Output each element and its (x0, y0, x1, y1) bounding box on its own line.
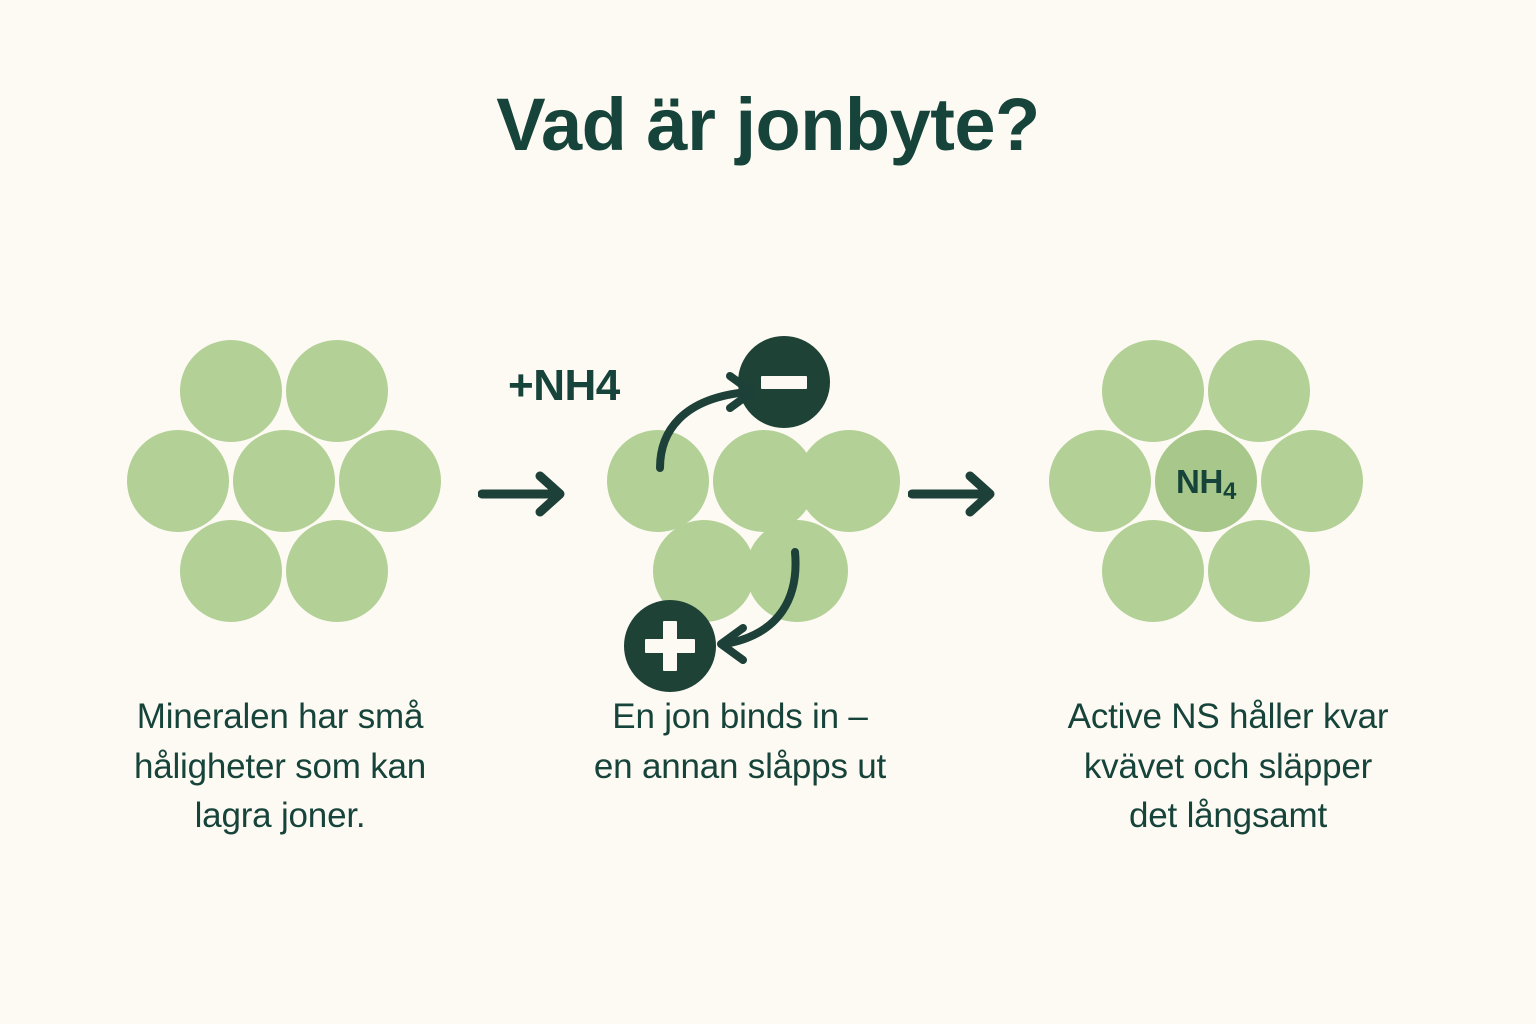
infographic-canvas: Vad är jonbyte? Mineralen har små håligh… (0, 0, 1536, 1024)
mineral-circle (339, 430, 441, 532)
mineral-circle (1261, 430, 1363, 532)
caption-line: Mineralen har små (60, 692, 500, 742)
caption-line: Active NS håller kvar (980, 692, 1476, 742)
mineral-circle (1208, 520, 1310, 622)
step-3-panel: NH4 Active NS håller kvar kvävet och slä… (980, 300, 1476, 920)
mineral-circle (127, 430, 229, 532)
page-title: Vad är jonbyte? (0, 88, 1536, 162)
mineral-circle (286, 520, 388, 622)
mineral-circle (286, 340, 388, 442)
step-3-caption: Active NS håller kvar kvävet och släpper… (980, 692, 1476, 841)
positive-ion-badge (624, 600, 716, 692)
plus-icon (645, 621, 695, 671)
caption-line: kvävet och släpper (980, 742, 1476, 792)
mineral-circle (798, 430, 900, 532)
negative-ion-badge (738, 336, 830, 428)
caption-line: en annan slåpps ut (520, 742, 960, 792)
caption-line: lagra joner. (60, 791, 500, 841)
step-1-caption: Mineralen har små håligheter som kan lag… (60, 692, 500, 841)
mineral-circle (607, 430, 709, 532)
mineral-circle (180, 520, 282, 622)
caption-line: håligheter som kan (60, 742, 500, 792)
minus-icon (761, 376, 807, 389)
caption-line: En jon binds in – (520, 692, 960, 742)
step-2-panel: +NH4 En jon binds in – en anna (520, 300, 960, 920)
mineral-cluster-empty (60, 300, 500, 700)
mineral-circle (746, 520, 848, 622)
mineral-circle (1049, 430, 1151, 532)
nh4-center-label: NH4 (1176, 465, 1236, 498)
mineral-cluster-exchange (520, 300, 960, 700)
mineral-circle-with-nh4: NH4 (1155, 430, 1257, 532)
caption-line: det långsamt (980, 791, 1476, 841)
mineral-circle (1102, 340, 1204, 442)
step-1-panel: Mineralen har små håligheter som kan lag… (60, 300, 500, 920)
mineral-circle (1208, 340, 1310, 442)
step-2-caption: En jon binds in – en annan slåpps ut (520, 692, 960, 791)
mineral-circle (233, 430, 335, 532)
mineral-circle (1102, 520, 1204, 622)
mineral-cluster-loaded: NH4 (980, 300, 1476, 700)
mineral-circle (180, 340, 282, 442)
